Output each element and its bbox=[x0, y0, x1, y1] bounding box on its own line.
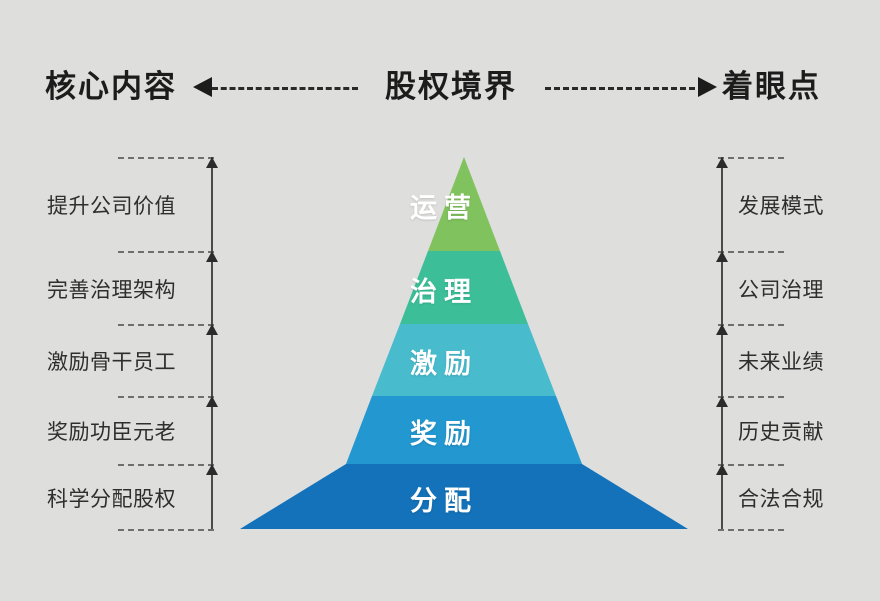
axis-arrow-icon bbox=[206, 251, 218, 262]
axis-arrow-icon bbox=[716, 251, 728, 262]
axis-arrow-icon bbox=[716, 464, 728, 475]
right-focus-point-label: 未来业绩 bbox=[738, 346, 824, 376]
left-core-content-label: 科学分配股权 bbox=[47, 483, 176, 513]
right-focus-point-label: 历史贡献 bbox=[738, 416, 824, 446]
axis-arrow-icon bbox=[716, 324, 728, 335]
guide-line bbox=[718, 529, 784, 531]
axis-arrow-icon bbox=[716, 396, 728, 407]
left-core-content-label: 完善治理架构 bbox=[47, 274, 176, 304]
left-core-content-label: 提升公司价值 bbox=[47, 190, 176, 220]
guide-line bbox=[118, 464, 214, 466]
measure-axis bbox=[721, 157, 723, 251]
measure-axis bbox=[211, 157, 213, 251]
left-core-content-label: 激励骨干员工 bbox=[47, 346, 176, 376]
axis-arrow-icon bbox=[206, 157, 218, 168]
guide-line bbox=[118, 157, 214, 159]
left-core-content-label: 奖励功臣元老 bbox=[47, 416, 176, 446]
pyramid-diagram-canvas: 核心内容 股权境界 着眼点 运营治理激励奖励分配 提升公司价值完善治理架构激励骨… bbox=[0, 0, 880, 601]
guide-line bbox=[118, 529, 214, 531]
guide-line bbox=[118, 324, 214, 326]
guide-line bbox=[118, 251, 214, 253]
axis-arrow-icon bbox=[206, 464, 218, 475]
right-focus-point-label: 合法合规 bbox=[738, 483, 824, 513]
right-focus-point-label: 发展模式 bbox=[738, 190, 824, 220]
right-focus-point-label: 公司治理 bbox=[738, 274, 824, 304]
axis-arrow-icon bbox=[206, 396, 218, 407]
guide-line bbox=[118, 396, 214, 398]
axis-arrow-icon bbox=[206, 324, 218, 335]
axis-arrow-icon bbox=[716, 157, 728, 168]
